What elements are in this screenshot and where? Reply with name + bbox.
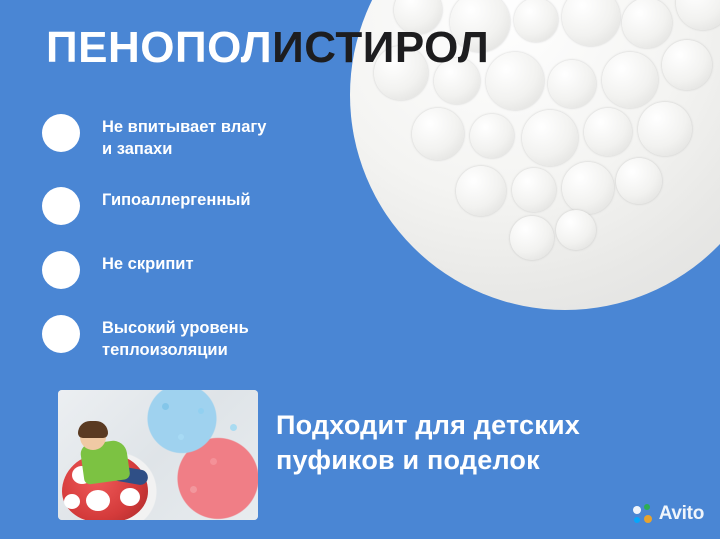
title-part-black: ИСТИРОЛ [272, 23, 489, 72]
feature-text: Высокий уровень теплоизоляции [102, 313, 249, 362]
feature-text: Не впитывает влагу и запахи [102, 112, 266, 161]
feature-text: Гипоаллергенный [102, 185, 251, 211]
poster-title: ПЕНОПОЛИСТИРОЛ [46, 26, 489, 70]
avito-watermark: Avito [633, 503, 704, 525]
title-part-white: ПЕНОПОЛ [46, 23, 272, 72]
application-photo [58, 390, 258, 520]
list-item: Не скрипит [42, 249, 382, 289]
product-poster: ПЕНОПОЛИСТИРОЛ Не впитывает влагу и запа… [0, 0, 720, 539]
feature-list: Не впитывает влагу и запахи Гипоаллерген… [42, 112, 382, 385]
list-item: Не впитывает влагу и запахи [42, 112, 382, 161]
bullet-dot-icon [42, 187, 80, 225]
kid-hair [78, 421, 108, 438]
bullet-dot-icon [42, 114, 80, 152]
bullet-dot-icon [42, 251, 80, 289]
feature-text: Не скрипит [102, 249, 194, 275]
list-item: Высокий уровень теплоизоляции [42, 313, 382, 362]
bullet-dot-icon [42, 315, 80, 353]
avito-logo-icon [633, 504, 653, 524]
list-item: Гипоаллергенный [42, 185, 382, 225]
avito-logo-text: Avito [659, 503, 704, 525]
kid-on-beanbag-image [58, 424, 164, 520]
poster-caption: Подходит для детских пуфиков и поделок [276, 408, 580, 477]
